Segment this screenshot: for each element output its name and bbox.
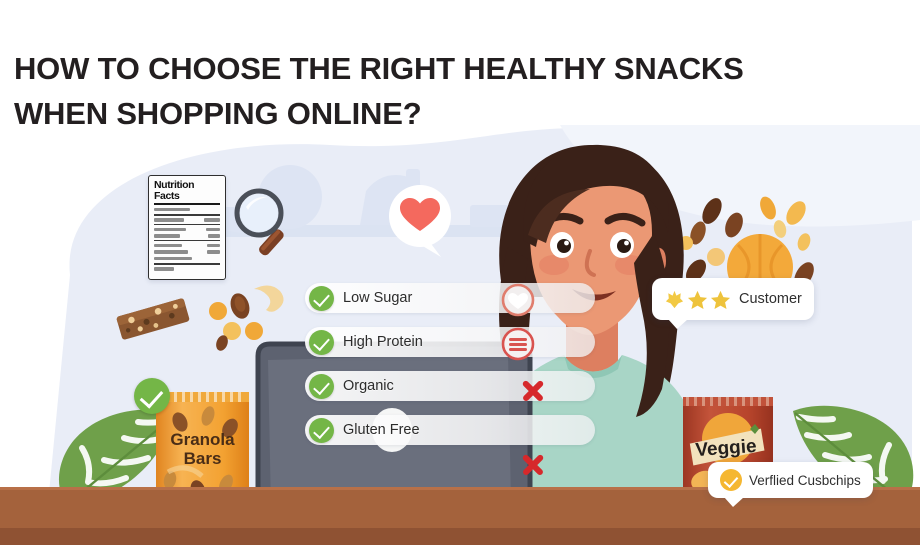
star-icon	[664, 289, 685, 310]
verified-badge-label: Verflied Cusbchips	[749, 473, 861, 488]
list-circle-icon	[500, 327, 536, 361]
heart-circle-icon	[500, 283, 536, 317]
star-rating	[664, 289, 731, 310]
granola-bar-icon	[112, 293, 194, 345]
green-check-icon	[309, 418, 334, 443]
heart-speech-bubble	[385, 183, 457, 259]
green-check-icon	[309, 286, 334, 311]
nutrition-divider	[154, 224, 220, 225]
nutrition-row	[154, 267, 220, 271]
nutrition-divider	[154, 263, 220, 265]
nutrition-row	[154, 244, 220, 248]
check-circle-icon	[720, 469, 742, 491]
magnifying-glass-icon	[232, 187, 304, 261]
snack-criteria-checklist: Low Sugar High Protein Organic Gluten Fr…	[305, 283, 595, 459]
red-x-icon	[518, 449, 548, 479]
nutrition-row	[154, 208, 220, 212]
title-line-2: WHEN SHOPPING ONLINE?	[14, 91, 834, 136]
checklist-row-organic[interactable]: Organic	[305, 371, 595, 401]
nutrition-row	[154, 250, 220, 254]
checklist-row-gluten-free[interactable]: Gluten Free	[305, 415, 595, 445]
nutrition-divider	[154, 214, 220, 216]
customer-rating-label: Customer	[739, 291, 802, 307]
customer-rating-badge[interactable]: Customer	[652, 278, 814, 320]
checklist-row-high-protein[interactable]: High Protein	[305, 327, 595, 357]
nutrition-facts-heading: Nutrition Facts	[154, 180, 220, 205]
star-icon	[687, 289, 708, 310]
green-check-icon	[309, 330, 334, 355]
illustration-scene: Nutrition Facts	[0, 125, 920, 545]
nutrition-divider	[154, 240, 220, 241]
checklist-label: High Protein	[343, 334, 423, 350]
nutrition-row	[154, 234, 220, 238]
page-title: HOW TO CHOOSE THE RIGHT HEALTHY SNACKS W…	[14, 46, 834, 136]
granola-package-label: GranolaBars	[150, 430, 255, 468]
checklist-row-low-sugar[interactable]: Low Sugar	[305, 283, 595, 313]
desk-edge	[0, 528, 920, 545]
checklist-label: Low Sugar	[343, 290, 412, 306]
nutrition-row	[154, 257, 220, 261]
verified-badge[interactable]: Verflied Cusbchips	[708, 462, 873, 498]
red-x-icon	[518, 375, 548, 405]
infographic-canvas: HOW TO CHOOSE THE RIGHT HEALTHY SNACKS W…	[0, 0, 920, 545]
granola-approved-badge	[134, 378, 170, 414]
nutrition-row	[154, 218, 220, 222]
checklist-label: Gluten Free	[343, 422, 420, 438]
star-icon	[710, 289, 731, 310]
title-line-1: HOW TO CHOOSE THE RIGHT HEALTHY SNACKS	[14, 46, 834, 91]
checklist-label: Organic	[343, 378, 394, 394]
green-check-icon	[309, 374, 334, 399]
nutrition-row	[154, 228, 220, 232]
nutrition-facts-label: Nutrition Facts	[148, 175, 226, 280]
